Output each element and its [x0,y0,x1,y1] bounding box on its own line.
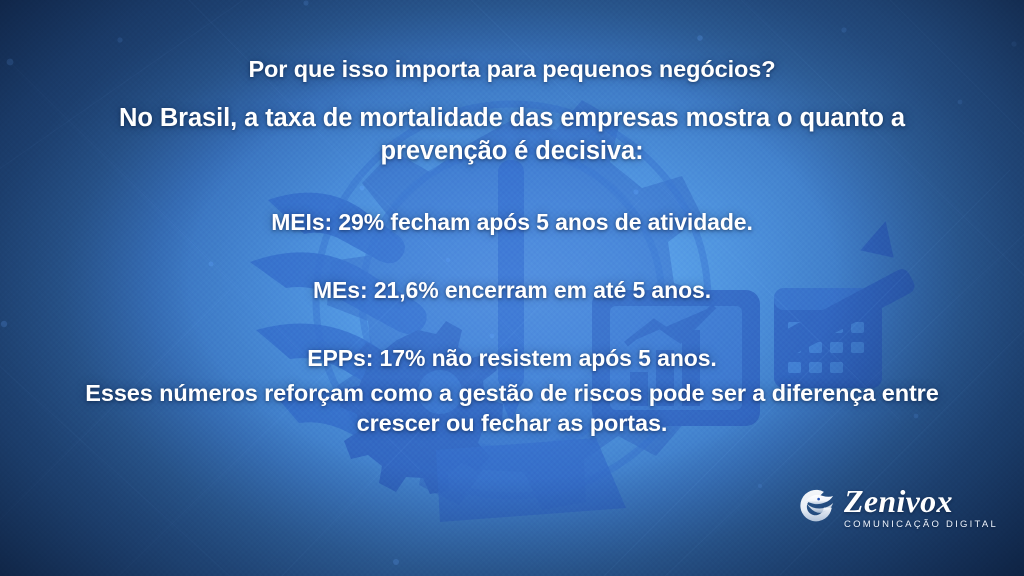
zenivox-logo: Zenivox COMUNICAÇÃO DIGITAL [795,484,998,532]
brand-name: Zenivox [844,486,953,517]
fish-circle-icon [795,484,837,526]
stat-me: MEs: 21,6% encerram em até 5 anos. [313,276,711,306]
stat-epp: EPPs: 17% não resistem após 5 anos. [307,344,716,374]
slide-canvas: Por que isso importa para pequenos negóc… [0,0,1024,576]
logo-text-block: Zenivox COMUNICAÇÃO DIGITAL [844,486,998,530]
headline-question: Por que isso importa para pequenos negóc… [248,54,775,85]
brand-tagline: COMUNICAÇÃO DIGITAL [844,519,998,530]
stat-mei: MEIs: 29% fecham após 5 anos de atividad… [271,208,753,238]
headline-subtitle: No Brasil, a taxa de mortalidade das emp… [72,102,952,168]
closing-statement: Esses números reforçam como a gestão de … [52,378,972,439]
